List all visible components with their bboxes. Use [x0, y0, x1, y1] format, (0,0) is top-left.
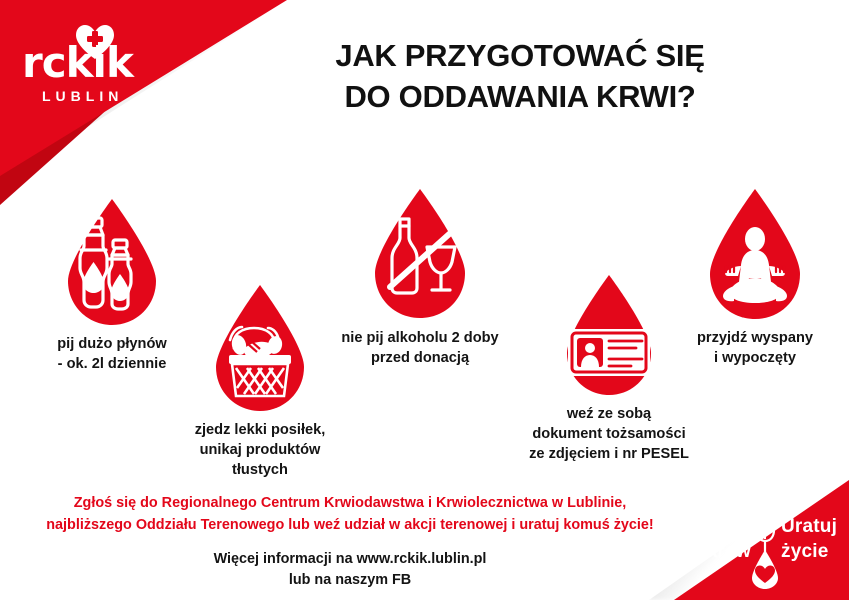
call-to-action-text: Zgłoś się do Regionalnego Centrum Krwiod… [20, 492, 680, 537]
logo-city: LUBLIN [42, 88, 123, 104]
badge-row-bottom: krew życie [685, 541, 845, 565]
poster-root: rckik LUBLIN JAK PRZYGOTOWAĆ SIĘ DO ODDA… [0, 0, 849, 600]
step-card-well-rested: przyjdź wyspany i wypoczęty [655, 186, 849, 368]
no-alcohol-icon [357, 186, 483, 322]
meditating-person-icon [692, 186, 818, 322]
logo-wordmark: rckik [22, 42, 133, 84]
donate-blood-badge: Oddaj Uratuj krew życie [685, 516, 845, 594]
title-line-2: DO ODDAWANIA KRWI? [270, 77, 770, 118]
step-label: przyjdź wyspany i wypoczęty [655, 328, 849, 368]
picnic-basket-food-icon [199, 282, 321, 414]
title-line-1: JAK PRZYGOTOWAĆ SIĘ [270, 36, 770, 77]
badge-word-uratuj: Uratuj [781, 516, 843, 538]
id-card-icon [550, 272, 668, 398]
page-title: JAK PRZYGOTOWAĆ SIĘ DO ODDAWANIA KRWI? [270, 36, 770, 118]
rckik-logo: rckik LUBLIN [22, 24, 152, 109]
badge-word-zycie: życie [781, 541, 843, 563]
badge-word-oddaj: Oddaj [689, 516, 751, 538]
step-label: zjedz lekki posiłek, unikaj produktów tł… [150, 420, 370, 480]
step-label: weź ze sobą dokument tożsamości ze zdjęc… [495, 404, 723, 464]
badge-divider [764, 515, 766, 539]
more-info-text: Więcej informacji na www.rckik.lublin.pl… [70, 549, 630, 592]
badge-row-top: Oddaj Uratuj [685, 516, 845, 540]
badge-word-krew: krew [689, 541, 751, 563]
